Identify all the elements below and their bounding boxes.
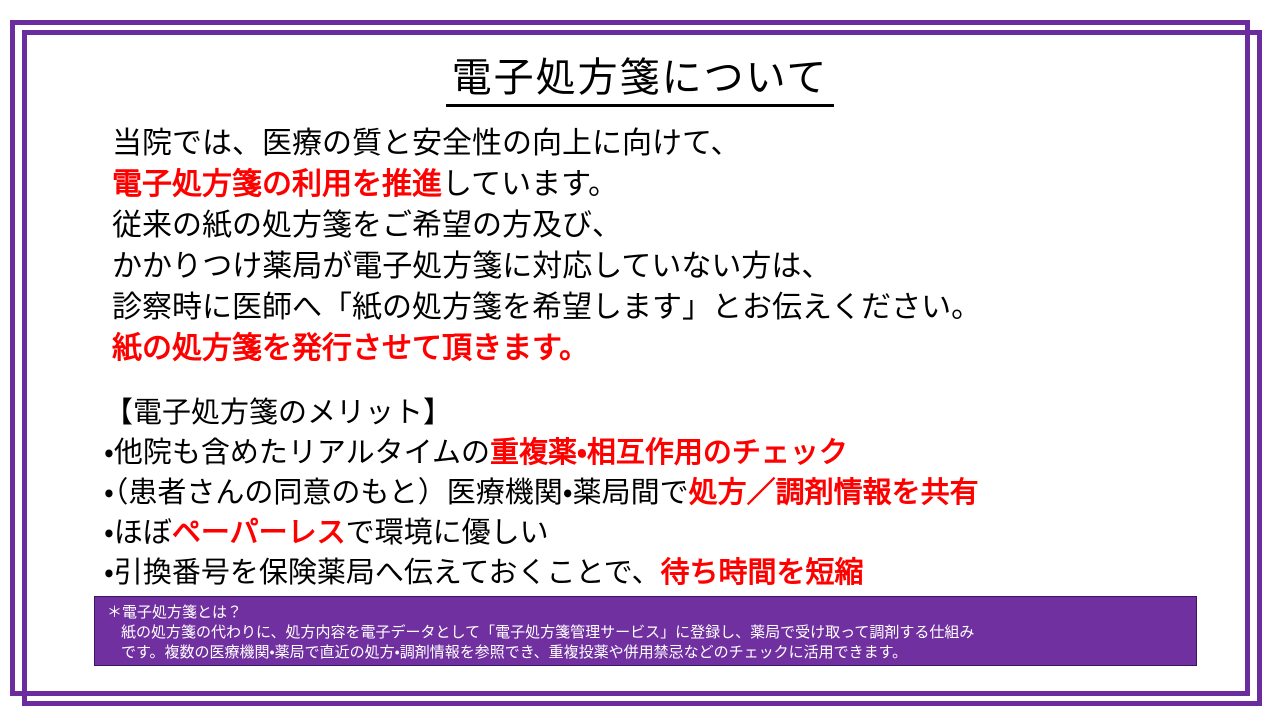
merit-list-item: ・（患者さんの同意のもと）医療機関・薬局間で処方／調剤情報を共有 — [104, 472, 1204, 512]
page-title: 電子処方箋について — [446, 56, 835, 107]
body-line-6: 紙の処方箋を発行させて頂きます。 — [112, 328, 1172, 369]
body-line-1: 当院では、医療の質と安全性の向上に向けて、 — [112, 123, 1172, 164]
body-line-2: 電子処方箋の利用を推進しています。 — [112, 164, 1172, 205]
body-line-4: かかりつけ薬局が電子処方箋に対応していない方は、 — [112, 246, 1172, 287]
body-paragraph: 当院では、医療の質と安全性の向上に向けて、 電子処方箋の利用を推進しています。 … — [112, 123, 1172, 369]
page-title-container: 電子処方箋について — [0, 56, 1280, 107]
merit-item-0-emphasis: 重複薬・相互作用のチェック — [490, 435, 848, 469]
merit-item-2-tail: で環境に優しい — [346, 515, 549, 549]
body-line-5: 診察時に医師へ「紙の処方箋を希望します」とお伝えください。 — [112, 287, 1172, 328]
footnote-line-1: ＊電子処方箋とは？ — [107, 602, 1188, 622]
merit-list-item: ・他院も含めたリアルタイムの重複薬・相互作用のチェック — [104, 432, 1204, 472]
footnote-line-2: 紙の処方箋の代わりに、処方内容を電子データとして「電子処方箋管理サービス」に登録… — [107, 622, 1188, 642]
merit-item-1-emphasis: 処方／調剤情報を共有 — [689, 475, 979, 509]
merit-item-3-plain: ・引換番号を保険薬局へ伝えておくことで、 — [104, 555, 661, 589]
merit-list-item: ・引換番号を保険薬局へ伝えておくことで、待ち時間を短縮 — [104, 552, 1204, 592]
footnote-line-3: です。複数の医療機関・薬局で直近の処方・調剤情報を参照でき、重複投薬や併用禁忌な… — [107, 642, 1188, 662]
body-line-2-rest: しています。 — [442, 167, 618, 202]
merits-heading: 【電子処方箋のメリット】 — [104, 392, 1204, 432]
footnote-box: ＊電子処方箋とは？ 紙の処方箋の代わりに、処方内容を電子データとして「電子処方箋… — [94, 596, 1197, 666]
merit-item-2-emphasis: ペーパーレス — [172, 515, 346, 549]
body-line-2-emphasis: 電子処方箋の利用を推進 — [112, 167, 442, 202]
merit-list-item: ・ほぼペーパーレスで環境に優しい — [104, 512, 1204, 552]
merit-item-0-plain: ・他院も含めたリアルタイムの — [104, 435, 490, 469]
merit-item-1-plain: ・（患者さんの同意のもと）医療機関・薬局間で — [104, 475, 689, 509]
merit-item-3-emphasis: 待ち時間を短縮 — [661, 555, 864, 589]
merit-item-2-plain: ・ほぼ — [104, 515, 172, 549]
slide-canvas: 電子処方箋について 当院では、医療の質と安全性の向上に向けて、 電子処方箋の利用… — [0, 0, 1280, 720]
merits-section: 【電子処方箋のメリット】 ・他院も含めたリアルタイムの重複薬・相互作用のチェック… — [104, 392, 1204, 592]
body-line-3: 従来の紙の処方箋をご希望の方及び、 — [112, 205, 1172, 246]
